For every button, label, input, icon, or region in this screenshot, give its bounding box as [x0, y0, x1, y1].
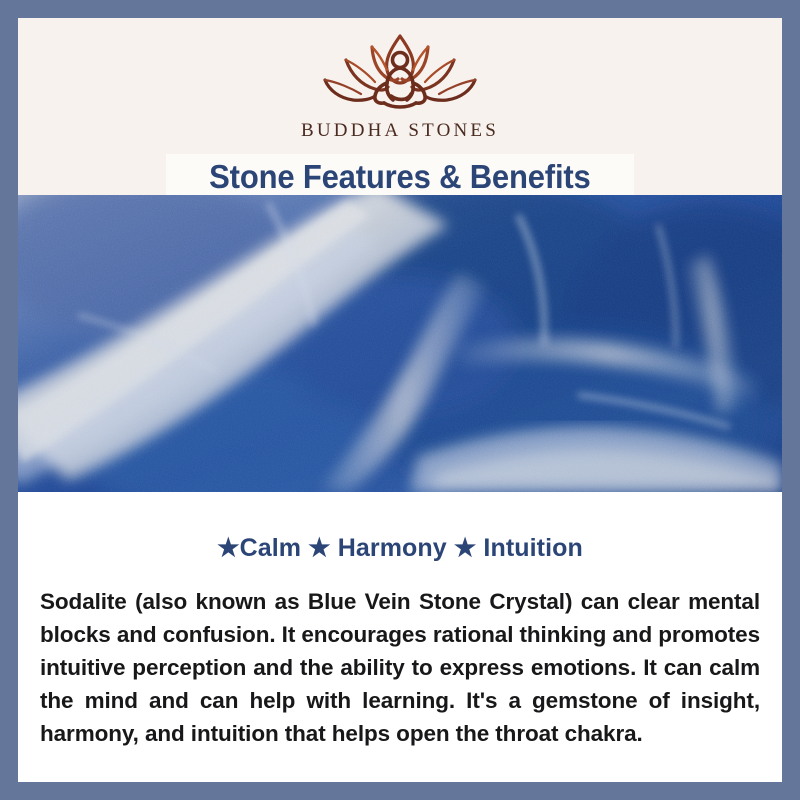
corner-accent-bottom-left: [0, 782, 606, 800]
stone-description: Sodalite (also known as Blue Vein Stone …: [18, 563, 782, 750]
stone-photo: Sodalite: [18, 195, 782, 492]
brand-name: BUDDHA STONES: [301, 120, 499, 142]
page-title: Stone Features & Benefits: [209, 158, 590, 196]
header: BUDDHA STONES Stone Features & Benefits: [18, 18, 782, 195]
sodalite-stone-photo-graphic: [18, 195, 782, 492]
page-title-card: Stone Features & Benefits: [166, 154, 634, 199]
poster-inner-card: BUDDHA STONES Stone Features & Benefits: [18, 18, 782, 782]
lotus-meditation-figure-icon: [315, 30, 485, 116]
poster: BUDDHA STONES Stone Features & Benefits: [0, 0, 800, 800]
brand-logo: BUDDHA STONES: [18, 30, 782, 142]
keywords-line: ★Calm ★ Harmony ★ Intuition: [18, 492, 782, 563]
content-panel: ★Calm ★ Harmony ★ Intuition Sodalite (al…: [18, 492, 782, 782]
corner-accent-top-right: [215, 0, 800, 18]
